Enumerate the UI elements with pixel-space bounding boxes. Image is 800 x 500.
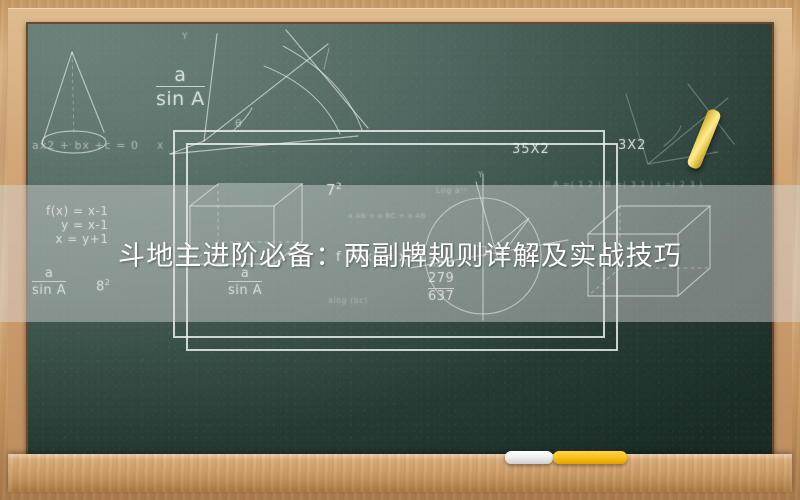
chalk-quadratic-equation: ax2 + bx +c = 0 <box>32 140 139 153</box>
white-chalk-piece-icon <box>505 451 553 464</box>
chalk-fraction-a-over-sinA-topleft: a sin A <box>156 64 205 111</box>
chalk-tray-ledge <box>8 454 792 492</box>
fraction-numerator: a <box>156 64 205 86</box>
page-title: 斗地主进阶必备：两副牌规则详解及实战技巧 <box>0 185 800 322</box>
chalk-matrix-label-right: 3X2 <box>618 138 646 153</box>
yellow-chalk-piece-icon <box>553 451 627 464</box>
yellow-chalk-stick-icon <box>686 108 722 171</box>
chalk-axis-label-x-topleft: X <box>157 142 164 153</box>
cover-image-stage: a sin A Y X θ ax2 + bx +c = 0 f(x) = x-1… <box>0 0 800 500</box>
chalk-axis-label-y-topleft: Y <box>182 32 188 43</box>
fraction-denominator: sin A <box>156 86 205 110</box>
